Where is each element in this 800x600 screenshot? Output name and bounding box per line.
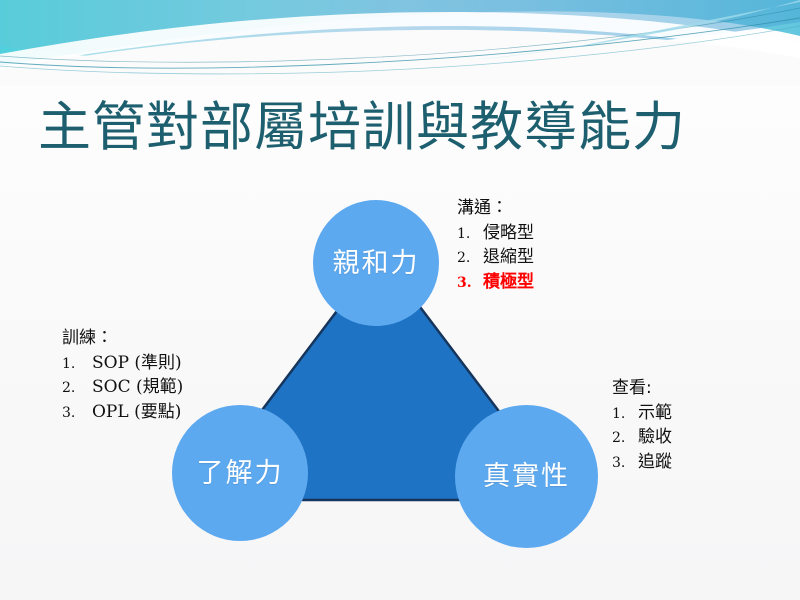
list-item-label: SOP (準則) (92, 351, 182, 375)
node-circle-right[interactable]: 真實性 (455, 405, 598, 548)
list-item-label: SOC (規範) (92, 375, 183, 399)
list-item-label: 積極型 (483, 270, 534, 294)
list-item-number: 1. (457, 225, 483, 245)
node-label-top: 親和力 (333, 250, 420, 277)
list-item-number: 3. (62, 404, 92, 424)
list-item: 1. 侵略型 (457, 221, 534, 245)
annotation-communication-heading: 溝通： (457, 198, 534, 219)
list-item-number: 2. (457, 249, 483, 269)
list-item: 1. 示範 (612, 401, 672, 425)
annotation-review-list: 1. 示範 2. 驗收 3. 追蹤 (612, 401, 672, 473)
node-circle-left[interactable]: 了解力 (172, 405, 308, 541)
node-label-left: 了解力 (197, 460, 284, 487)
annotation-review: 查看: 1. 示範 2. 驗收 3. 追蹤 (612, 378, 672, 474)
list-item-number: 1. (612, 405, 638, 425)
annotation-review-heading: 查看: (612, 378, 672, 399)
list-item: 3. OPL (要點) (62, 400, 183, 424)
node-label-right: 真實性 (483, 463, 570, 490)
list-item-number: 2. (612, 429, 638, 449)
presentation-slide: 主管對部屬培訓與教導能力 親和力 了解力 真實性 溝通： 1. 侵略型 2. 退… (0, 0, 800, 600)
list-item: 2. 退縮型 (457, 245, 534, 269)
list-item: 3. 追蹤 (612, 450, 672, 474)
annotation-communication-list: 1. 侵略型 2. 退縮型 3. 積極型 (457, 221, 534, 293)
list-item-label: 追蹤 (638, 450, 672, 474)
node-circle-top[interactable]: 親和力 (313, 200, 439, 326)
list-item-label: 示範 (638, 401, 672, 425)
list-item-number: 2. (62, 379, 92, 399)
list-item: 2. SOC (規範) (62, 375, 183, 399)
list-item-number: 3. (612, 454, 638, 474)
list-item-label: 侵略型 (483, 221, 534, 245)
annotation-training-list: 1. SOP (準則) 2. SOC (規範) 3. OPL (要點) (62, 351, 183, 423)
list-item: 2. 驗收 (612, 425, 672, 449)
annotation-training: 訓練： 1. SOP (準則) 2. SOC (規範) 3. OPL (要點) (62, 328, 183, 424)
list-item-number: 3. (457, 274, 483, 294)
list-item-highlighted: 3. 積極型 (457, 270, 534, 294)
list-item-number: 1. (62, 355, 92, 375)
header-banner-decoration (0, 0, 800, 86)
page-title: 主管對部屬培訓與教導能力 (38, 98, 686, 157)
list-item-label: OPL (要點) (92, 400, 181, 424)
annotation-training-heading: 訓練： (62, 328, 183, 349)
list-item-label: 退縮型 (483, 245, 534, 269)
list-item-label: 驗收 (638, 425, 672, 449)
list-item: 1. SOP (準則) (62, 351, 183, 375)
annotation-communication: 溝通： 1. 侵略型 2. 退縮型 3. 積極型 (457, 198, 534, 294)
